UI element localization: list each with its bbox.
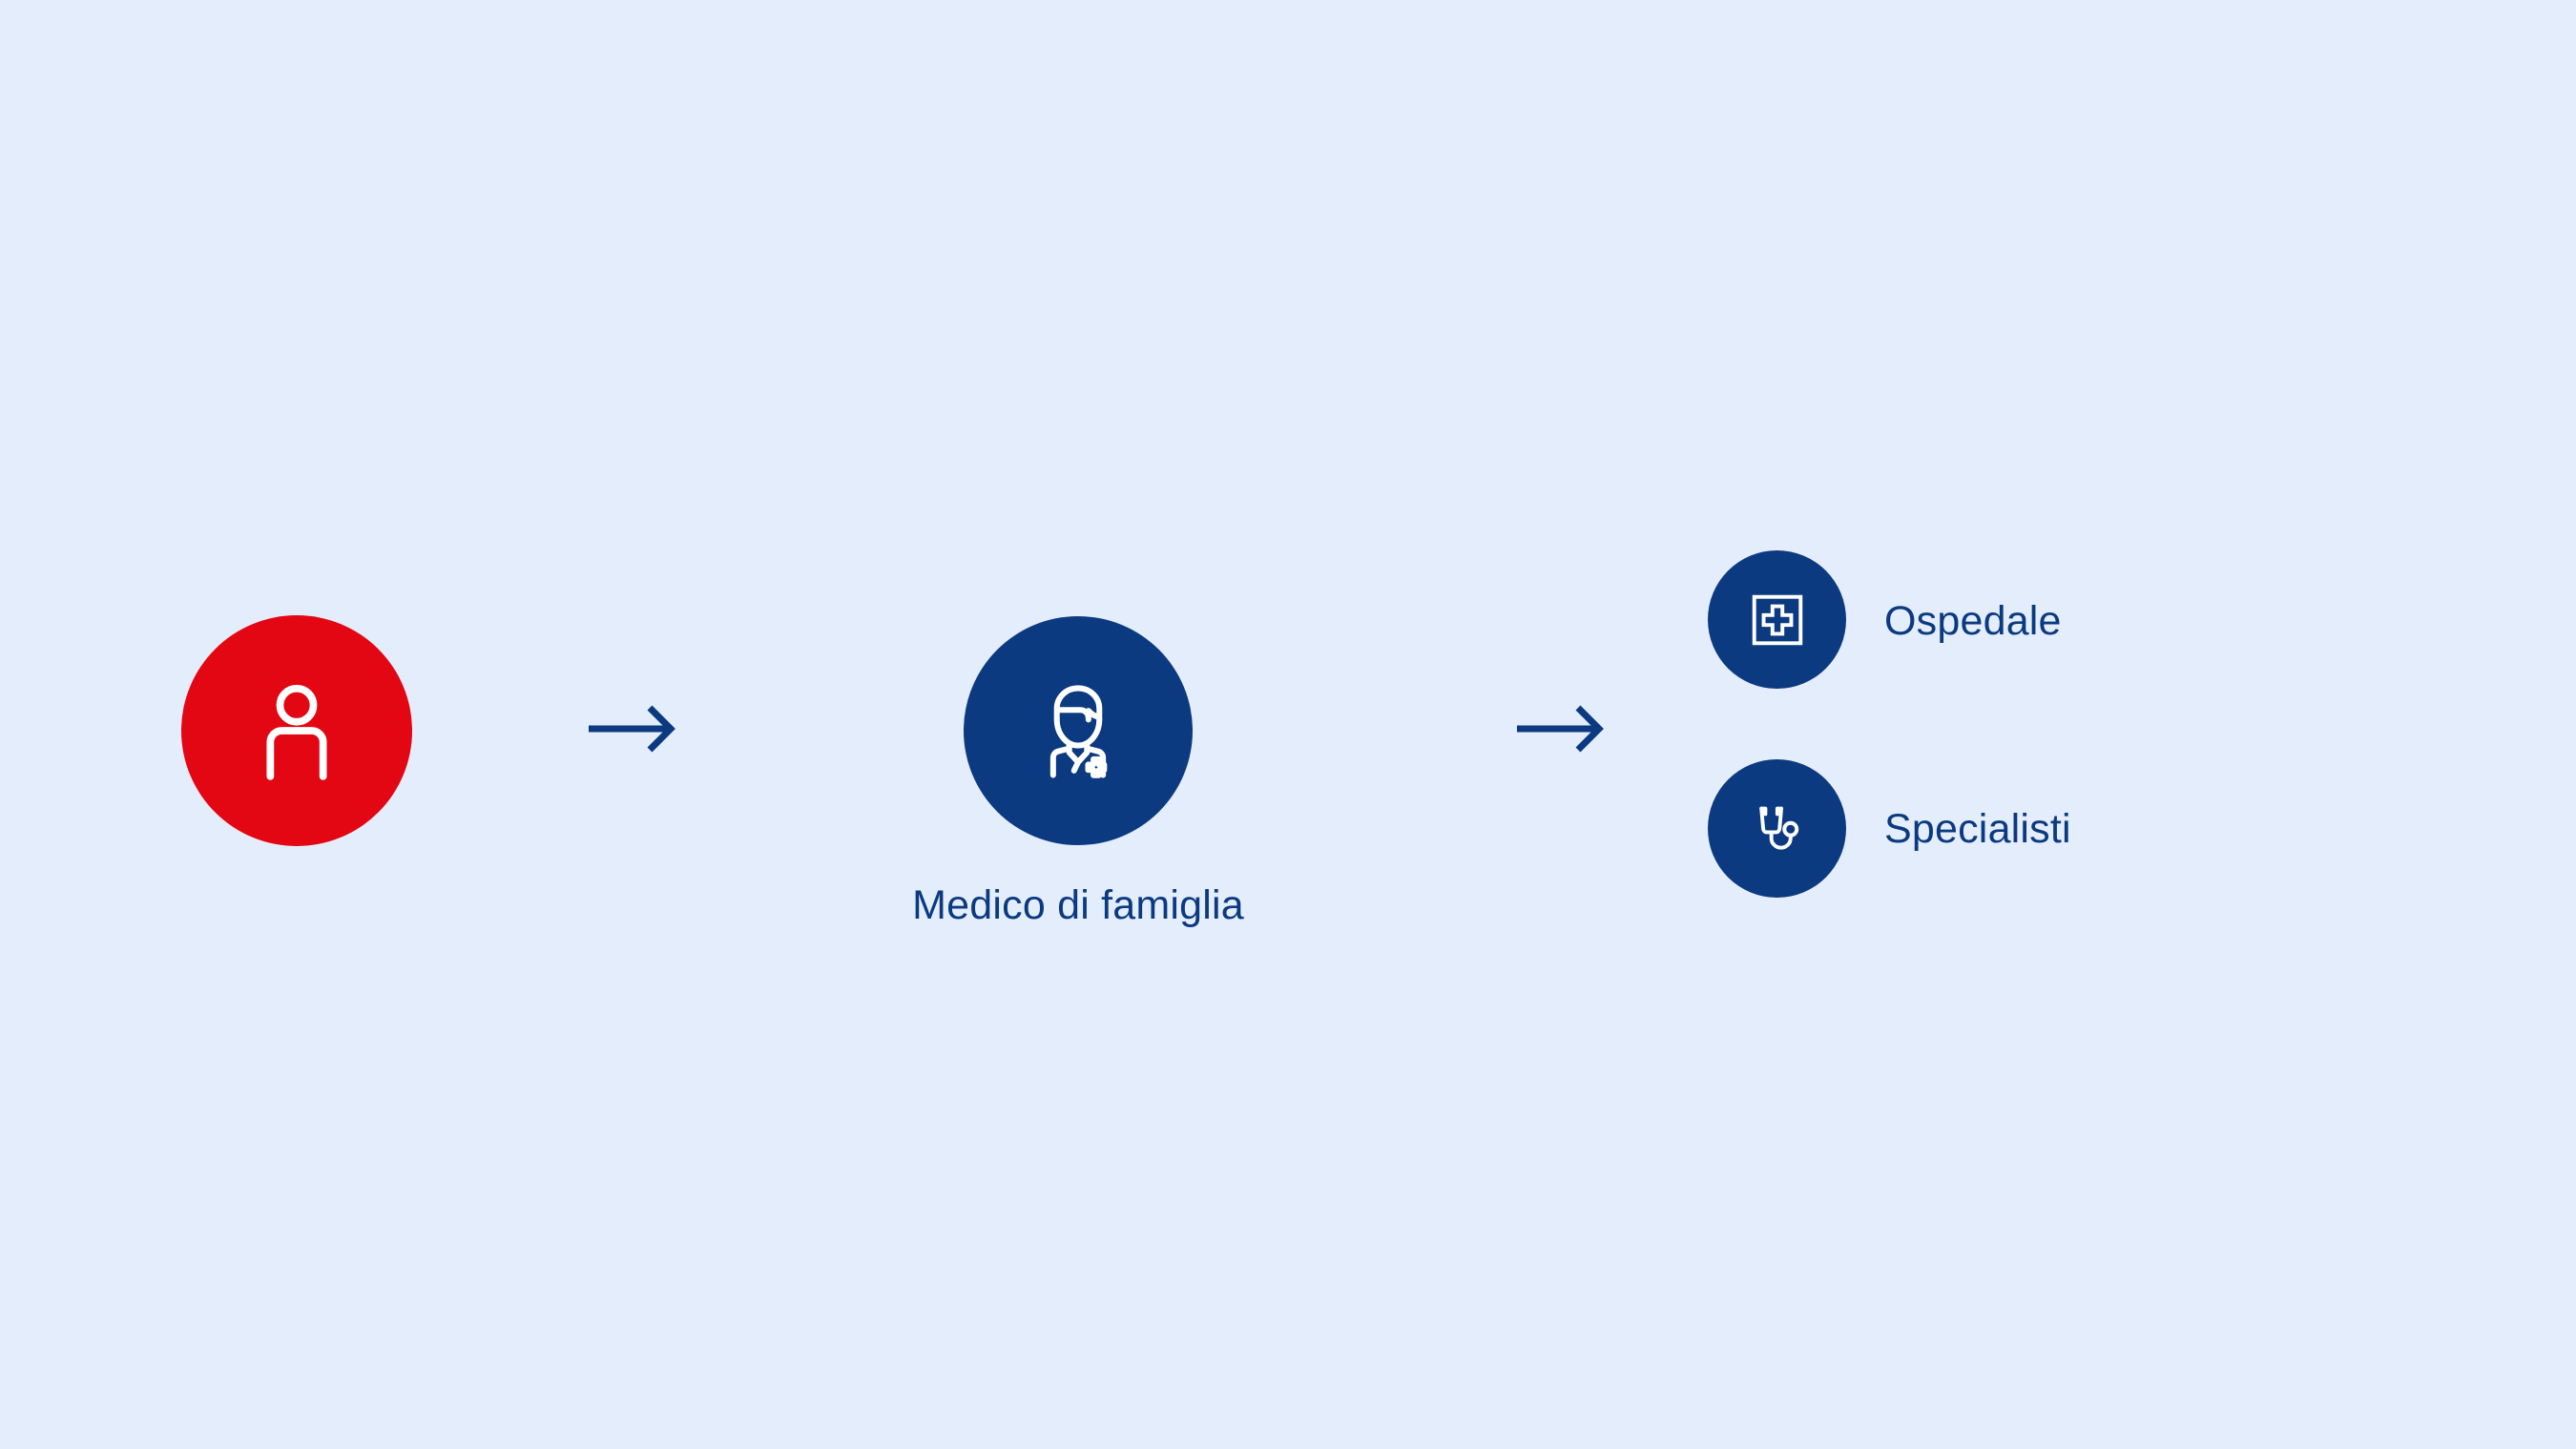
node-hospital [1708, 550, 1846, 689]
node-hospital-label: Ospedale [1884, 598, 2062, 645]
node-family-doctor [964, 616, 1193, 845]
doctor-icon [1019, 672, 1137, 790]
node-family-doctor-label: Medico di famiglia [912, 882, 1244, 929]
person-icon [240, 674, 353, 787]
node-specialists [1708, 759, 1846, 898]
flow-diagram-canvas: Medico di famiglia Ospedale [0, 0, 2576, 1449]
hospital-cross-icon [1742, 585, 1813, 655]
stethoscope-icon [1742, 794, 1813, 864]
node-patient [181, 615, 412, 846]
arrow-right-icon [587, 704, 676, 754]
arrow-right-icon [1515, 704, 1605, 754]
node-specialists-label: Specialisti [1884, 806, 2071, 853]
